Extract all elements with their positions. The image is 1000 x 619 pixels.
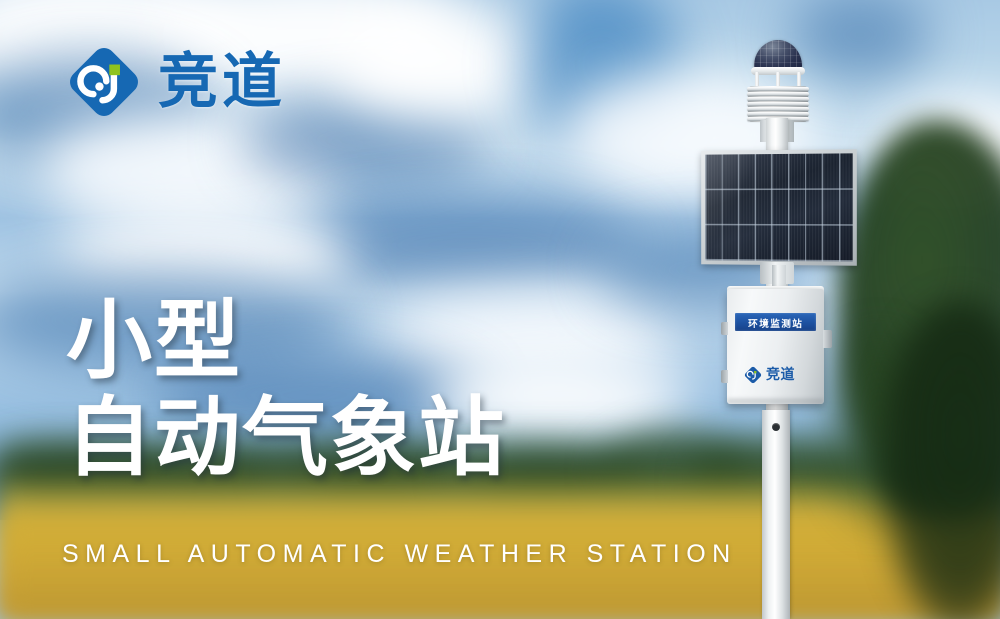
jingdao-diamond-logo-icon [744,366,762,384]
enclosure-brand-text: 竞道 [766,368,795,382]
shield-louver [747,87,809,91]
brand-wordmark: 竞道 [158,52,286,112]
enclosure-brand-logo: 竞道 [744,366,795,384]
solar-panel [701,149,857,266]
enclosure-mount-tab [823,330,832,348]
title-line-2: 自动气象站 [66,393,506,484]
enclosure-label-text: 环境监测站 [748,315,803,329]
title-line-1: 小型 [66,296,506,387]
enclosure-label-band: 环境监测站 [735,313,816,331]
banner-canvas: 环境监测站 竞道 [0,0,1000,619]
shield-louver [747,102,809,106]
shield-louver [747,107,809,111]
page-title: 小型 自动气象站 [66,296,506,484]
instrument-enclosure [727,289,824,404]
brand-logo[interactable]: 竞道 [66,44,286,120]
enclosure-mount-tab [721,322,728,335]
shield-louver [747,97,809,101]
enclosure-mount-tab [721,370,728,383]
enclosure-shadow [727,399,824,407]
shield-louver [747,112,809,116]
jingdao-diamond-logo-icon [66,44,142,120]
page-subtitle: SMALL AUTOMATIC WEATHER STATION [62,540,737,569]
sensor-dome-icon [754,40,802,70]
pole-screw-icon [772,423,780,431]
solar-panel-cells [705,153,853,261]
mounting-pole-lower [762,410,790,619]
shield-louver [747,92,809,96]
